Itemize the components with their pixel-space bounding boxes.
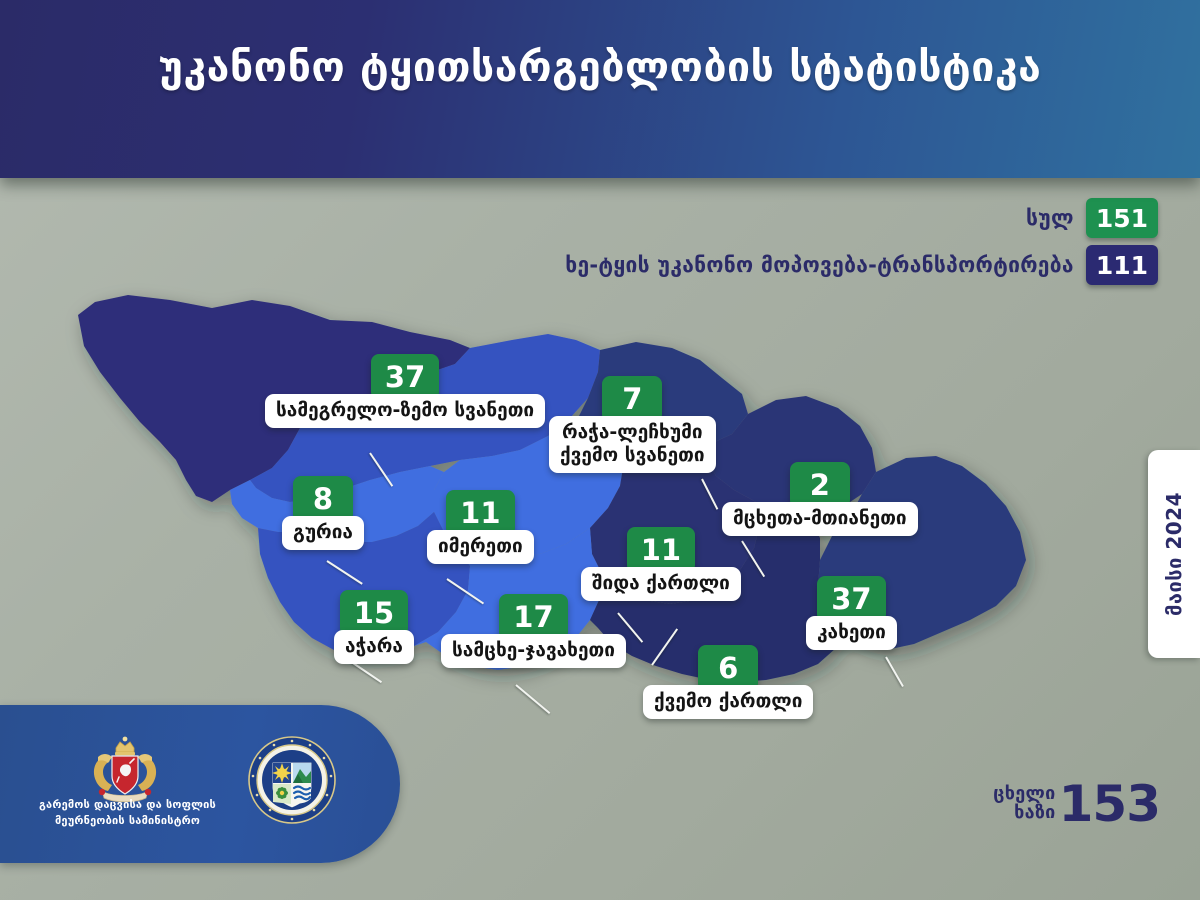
region-name-kvemokartli: ქვემო ქართლი — [643, 685, 813, 719]
region-name-racha-line1: რაჭა-ლეჩხუმი — [562, 421, 703, 443]
agency-seal-icon — [248, 736, 336, 824]
summary-total-label: სულ — [1026, 206, 1074, 230]
summary-total-row: სულ 151 — [1026, 198, 1158, 238]
summary-total-badge: 151 — [1086, 198, 1158, 238]
ministry-name: გარემოს დაცვისა და სოფლის მეურნეობის სამ… — [20, 797, 235, 828]
region-name-adjara: აჭარა — [334, 630, 414, 664]
hotline-label-line2: ხაზი — [1014, 802, 1055, 823]
region-label-kvemokartli: 6 ქვემო ქართლი — [643, 645, 813, 719]
coat-of-arms-icon — [86, 733, 164, 805]
region-name-mtskheta: მცხეთა-მთიანეთი — [722, 502, 918, 536]
infographic-canvas: უკანონო ტყითსარგებლობის სტატისტიკა სულ 1… — [0, 0, 1200, 900]
summary-transport-label: ხე-ტყის უკანონო მოპოვება-ტრანსპორტირება — [565, 253, 1074, 277]
region-label-racha: 7 რაჭა-ლეჩხუმი ქვემო სვანეთი — [549, 376, 716, 473]
hotline-label: ცხელი ხაზი — [993, 785, 1055, 823]
footer-panel — [0, 705, 400, 863]
date-tab-label: მაისი 2024 — [1162, 492, 1186, 616]
region-name-imereti: იმერეთი — [427, 530, 534, 564]
region-label-adjara: 15 აჭარა — [334, 590, 414, 664]
date-tab: მაისი 2024 — [1148, 450, 1200, 658]
region-label-guria: 8 გურია — [282, 476, 364, 550]
ministry-name-line2: მეურნეობის სამინისტრო — [55, 814, 200, 827]
page-title: უკანონო ტყითსარგებლობის სტატისტიკა — [0, 44, 1200, 91]
summary-transport-row: ხე-ტყის უკანონო მოპოვება-ტრანსპორტირება … — [565, 245, 1158, 285]
region-name-guria: გურია — [282, 516, 364, 550]
region-label-kakheti: 37 კახეთი — [806, 576, 897, 650]
hotline-block: ცხელი ხაზი 153 — [993, 775, 1160, 833]
region-name-samtskhe: სამცხე-ჯავახეთი — [441, 634, 626, 668]
region-name-racha-line2: ქვემო სვანეთი — [560, 444, 705, 466]
region-label-samtskhe: 17 სამცხე-ჯავახეთი — [441, 594, 626, 668]
region-label-imereti: 11 იმერეთი — [427, 490, 534, 564]
summary-transport-badge: 111 — [1086, 245, 1158, 285]
region-label-mtskheta: 2 მცხეთა-მთიანეთი — [722, 462, 918, 536]
region-label-samegrelo: 37 სამეგრელო-ზემო სვანეთი — [265, 354, 545, 428]
region-name-samegrelo: სამეგრელო-ზემო სვანეთი — [265, 394, 545, 428]
hotline-number: 153 — [1059, 775, 1160, 833]
header-banner: უკანონო ტყითსარგებლობის სტატისტიკა — [0, 0, 1200, 178]
ministry-name-line1: გარემოს დაცვისა და სოფლის — [39, 798, 216, 811]
region-label-shidakartli: 11 შიდა ქართლი — [581, 527, 741, 601]
region-name-kakheti: კახეთი — [806, 616, 897, 650]
region-name-racha: რაჭა-ლეჩხუმი ქვემო სვანეთი — [549, 416, 716, 473]
hotline-label-line1: ცხელი — [993, 783, 1055, 804]
